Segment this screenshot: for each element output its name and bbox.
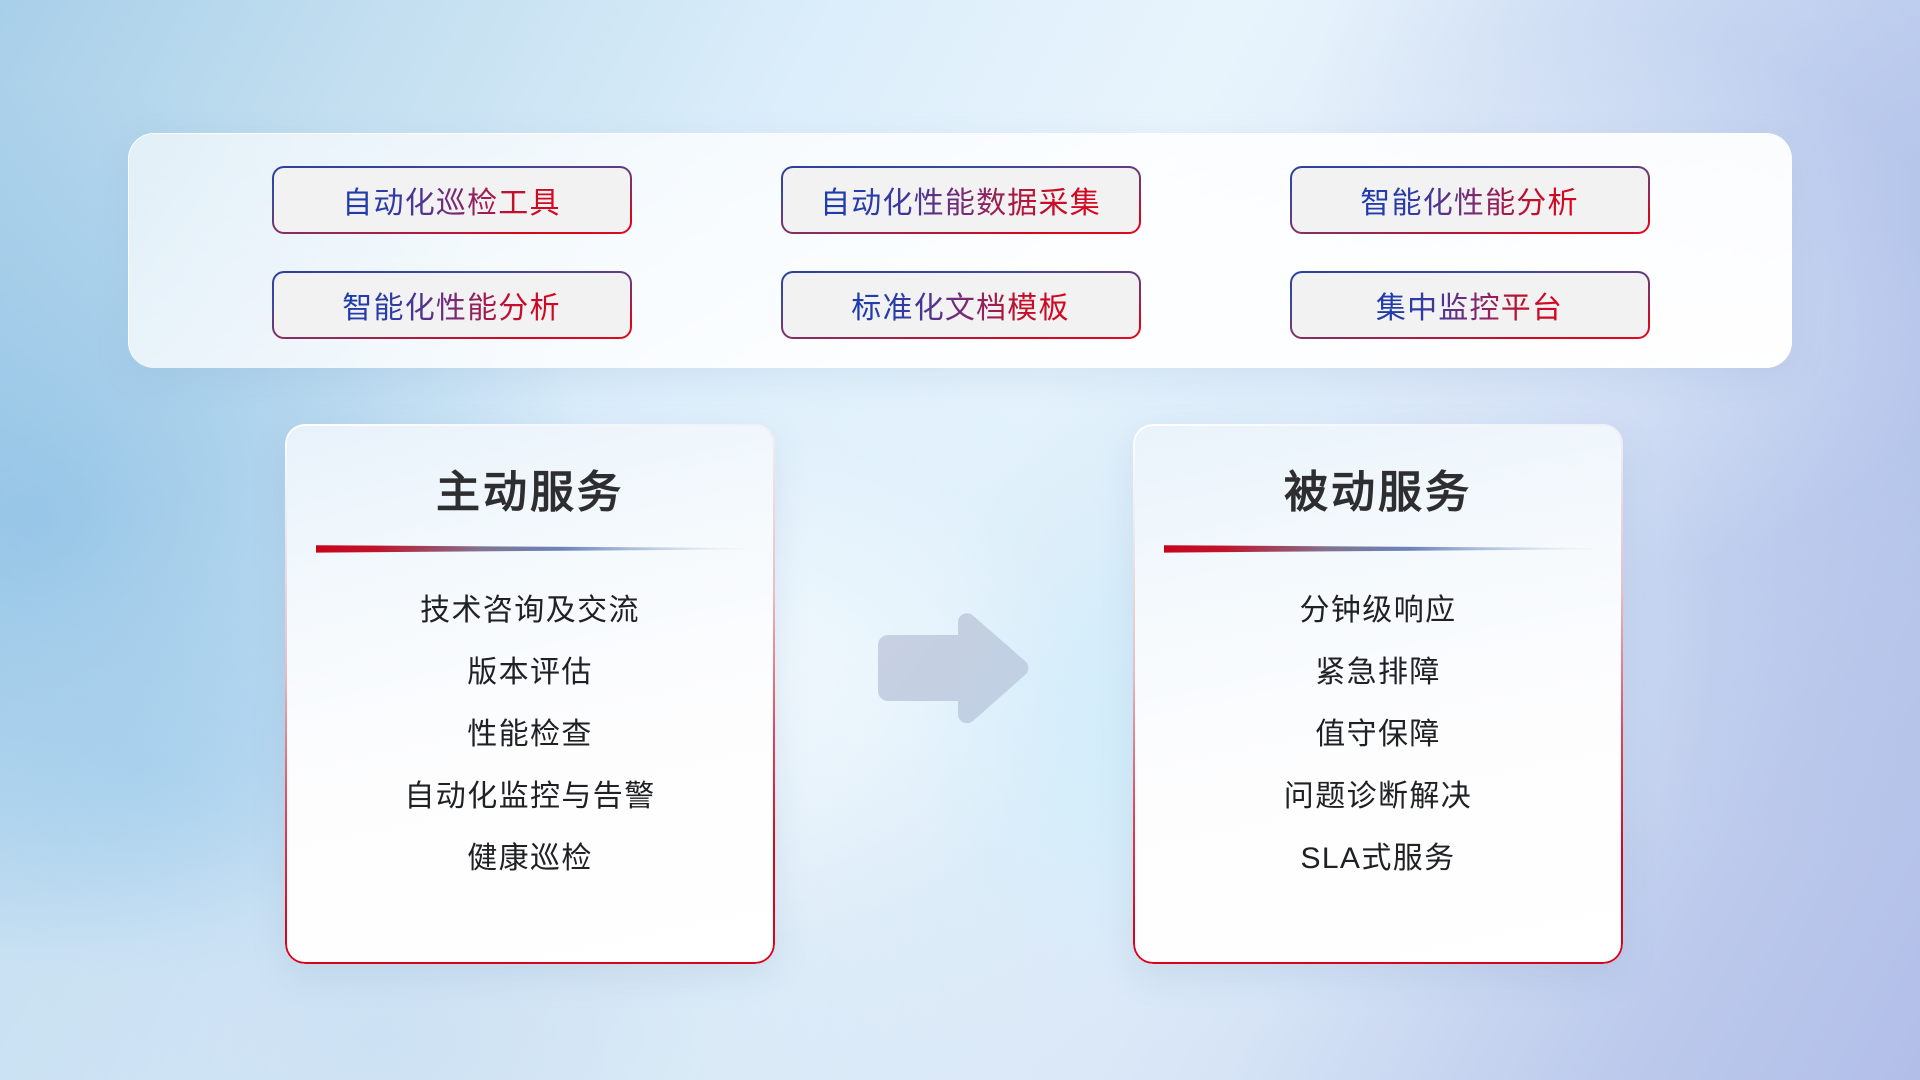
service-card-title: 被动服务 <box>1133 424 1623 520</box>
diagram-canvas: 自动化巡检工具 自动化性能数据采集 智能化性能分析 智能化性能分析 <box>0 0 1920 1080</box>
list-item: 健康巡检 <box>285 828 775 890</box>
flow-arrow-right-icon <box>872 613 1032 725</box>
capability-chip-label: 标准化文档模板 <box>851 283 1069 327</box>
capability-cell: 智能化性能分析 <box>1215 162 1724 239</box>
list-item: 问题诊断解决 <box>1133 766 1623 828</box>
capability-chip-intelligent-performance-analysis-2[interactable]: 智能化性能分析 <box>274 273 630 337</box>
capability-chip-label: 集中监控平台 <box>1376 283 1563 327</box>
list-item: 紧急排障 <box>1133 642 1623 704</box>
service-item-list: 分钟级响应 紧急排障 值守保障 问题诊断解决 SLA式服务 <box>1133 554 1623 890</box>
capability-chip-intelligent-performance-analysis[interactable]: 智能化性能分析 <box>1292 168 1648 232</box>
list-item: SLA式服务 <box>1133 828 1623 890</box>
list-item: 技术咨询及交流 <box>285 580 775 642</box>
list-item: 版本评估 <box>285 642 775 704</box>
list-item: 值守保障 <box>1133 704 1623 766</box>
capability-cell: 集中监控平台 <box>1215 267 1724 344</box>
capability-cell: 标准化文档模板 <box>706 267 1215 344</box>
capability-chip-centralized-monitoring-platform[interactable]: 集中监控平台 <box>1292 273 1648 337</box>
capabilities-grid: 自动化巡检工具 自动化性能数据采集 智能化性能分析 智能化性能分析 <box>129 162 1792 343</box>
service-card-passive: 被动服务 分钟级响应 紧急排障 值守保障 <box>1133 424 1623 964</box>
capability-chip-standardized-doc-template[interactable]: 标准化文档模板 <box>783 273 1139 337</box>
capability-cell: 智能化性能分析 <box>197 267 706 344</box>
capability-chip-label: 自动化性能数据采集 <box>820 178 1101 222</box>
list-item: 自动化监控与告警 <box>285 766 775 828</box>
service-item-list: 技术咨询及交流 版本评估 性能检查 自动化监控与告警 健康巡检 <box>285 554 775 890</box>
capability-cell: 自动化巡检工具 <box>197 162 706 239</box>
capability-chip-automated-inspection-tool[interactable]: 自动化巡检工具 <box>274 168 630 232</box>
gradient-divider <box>316 544 744 554</box>
gradient-divider <box>1164 544 1592 554</box>
capabilities-panel: 自动化巡检工具 自动化性能数据采集 智能化性能分析 智能化性能分析 <box>128 133 1792 368</box>
capability-chip-automated-performance-data-collection[interactable]: 自动化性能数据采集 <box>783 168 1139 232</box>
capability-chip-label: 自动化巡检工具 <box>342 178 560 222</box>
service-card-title: 主动服务 <box>285 424 775 520</box>
capability-cell: 自动化性能数据采集 <box>706 162 1215 239</box>
list-item: 性能检查 <box>285 704 775 766</box>
list-item: 分钟级响应 <box>1133 580 1623 642</box>
capability-chip-label: 智能化性能分析 <box>1360 178 1578 222</box>
service-card-active: 主动服务 技术咨询及交流 版本评估 性能检查 <box>285 424 775 964</box>
capability-chip-label: 智能化性能分析 <box>342 283 560 327</box>
